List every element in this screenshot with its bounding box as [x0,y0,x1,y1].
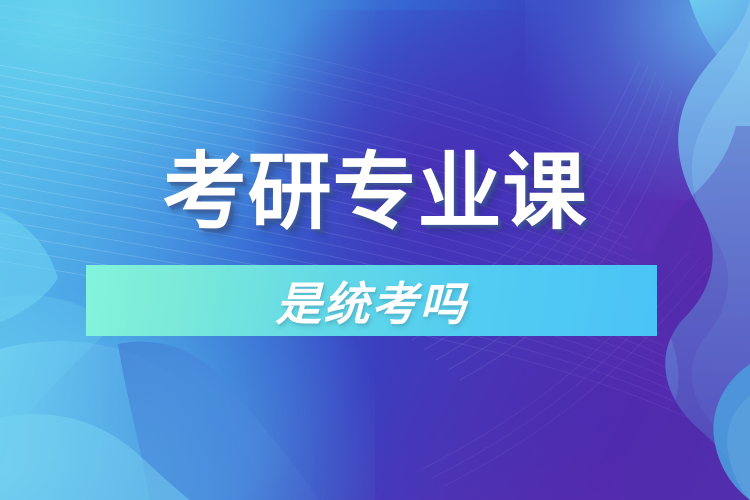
subtitle-bar: 是统考吗 [86,265,657,336]
banner-image: 考研专业课 是统考吗 [0,0,750,500]
banner-subtitle: 是统考吗 [86,265,657,336]
title-container: 考研专业课 [0,150,750,234]
banner-title: 考研专业课 [162,150,587,234]
